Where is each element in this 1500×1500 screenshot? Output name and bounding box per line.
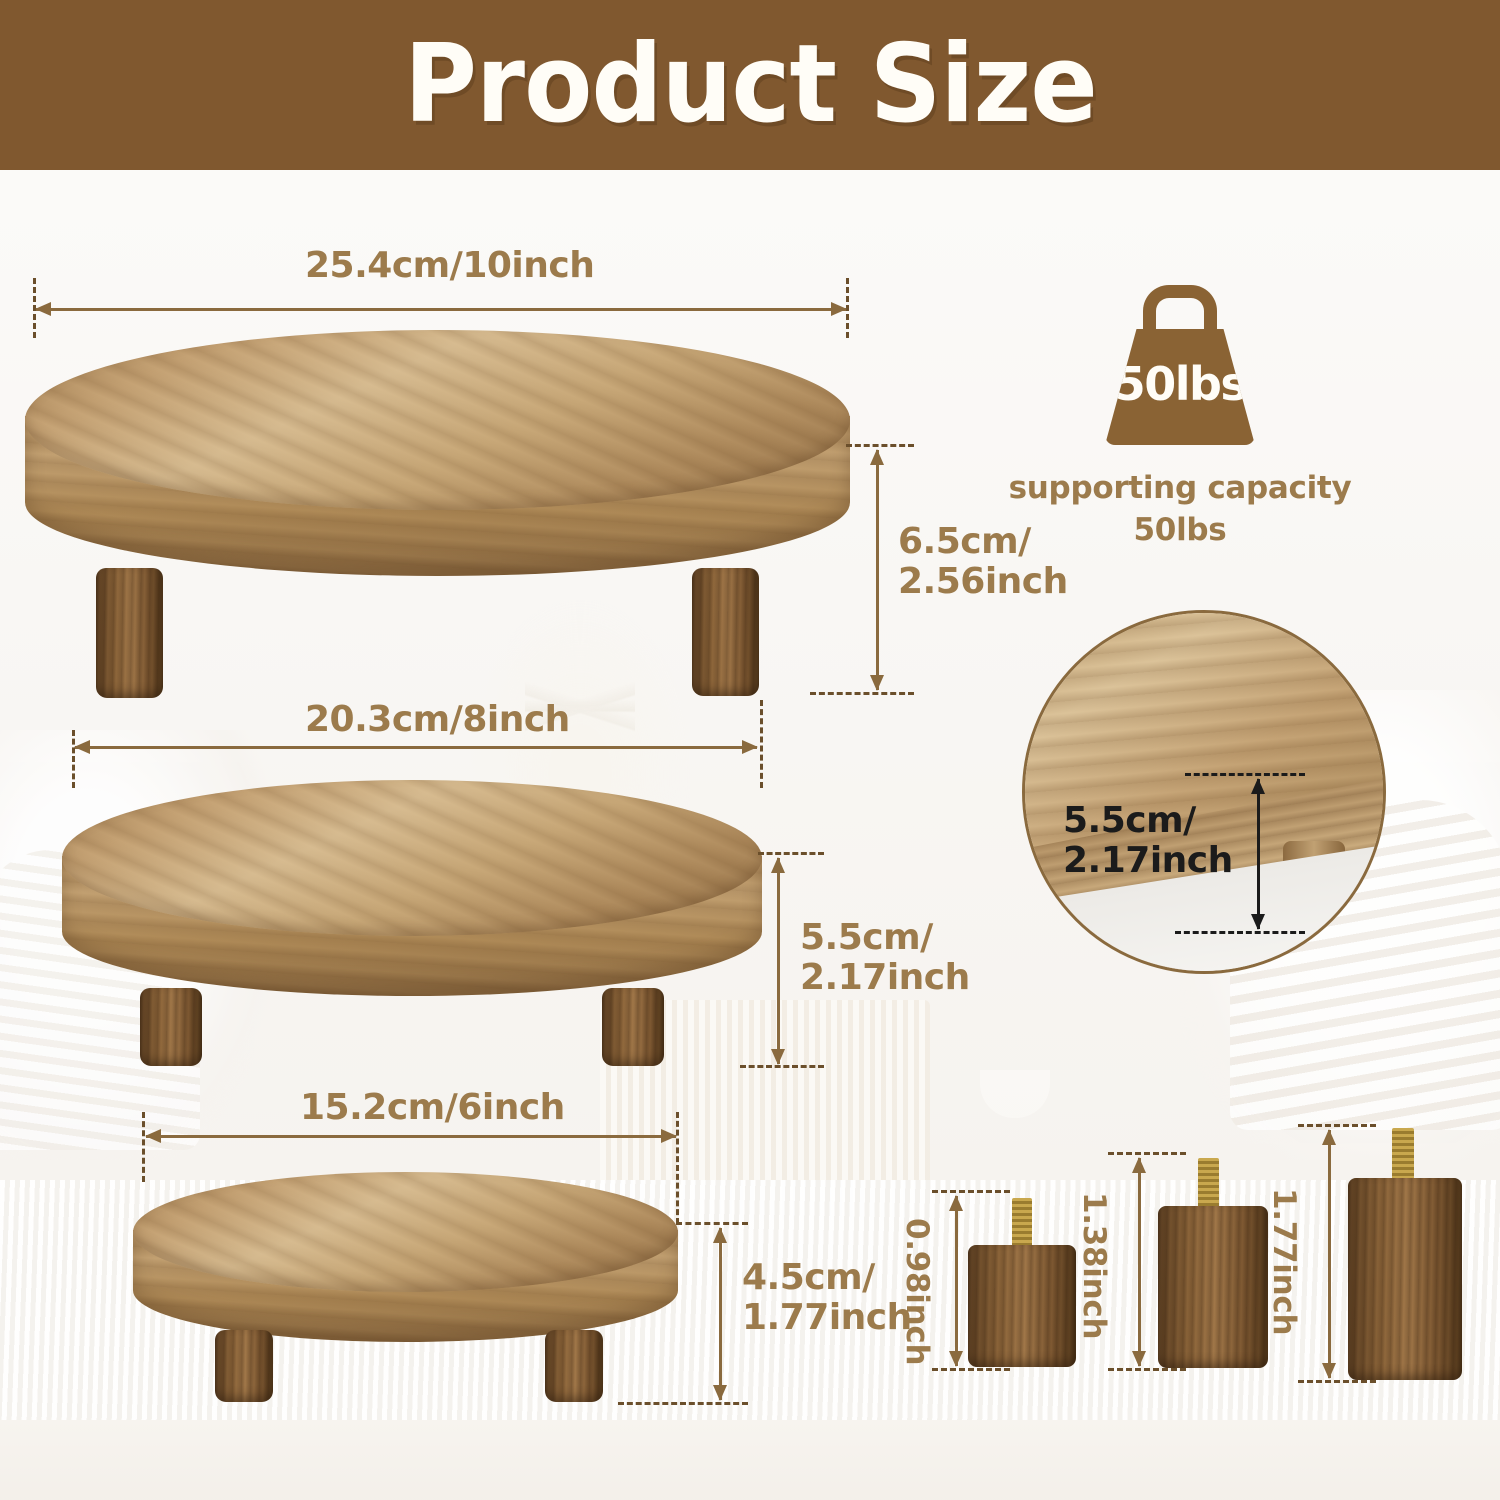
medium-riser-height-guide-top [758,852,824,855]
small-riser-diameter-label: 15.2cm/6inch [300,1088,565,1128]
medium-leg-guide-top [1108,1152,1186,1155]
medium-riser-guide-right [760,700,763,788]
medium-leg [1158,1206,1268,1368]
background-floor [0,1420,1500,1500]
supporting-capacity-caption: supporting capacity 50lbs [1000,468,1360,552]
medium-riser-diameter-label: 20.3cm/8inch [305,700,570,740]
short-leg [968,1245,1076,1367]
tall-leg-guide-bottom [1298,1380,1376,1383]
large-riser-height-guide-top [846,444,914,447]
weight-capacity-icon: 50lbs [1105,285,1255,445]
page-title: Product Size [404,31,1097,139]
short-leg-label: 0.98inch [899,1218,935,1365]
small-riser [133,1172,678,1342]
magnifier-height-label: 5.5cm/ 2.17inch [1063,801,1233,882]
short-leg-guide-top [932,1190,1010,1193]
medium-leg-label: 1.38inch [1076,1192,1112,1339]
small-riser-height-guide-top [676,1222,748,1225]
small-riser-surface [133,1172,678,1292]
detail-magnifier-circle: 5.5cm/ 2.17inch [1022,610,1386,974]
small-riser-leg-left [215,1330,273,1402]
product-size-infographic: Product Size 25.4cm/10inch 6.5cm/ 2.56in… [0,0,1500,1500]
medium-riser-height-arrow [777,858,780,1064]
small-riser-height-guide-bottom [618,1402,748,1405]
weight-body-icon: 50lbs [1105,329,1255,445]
medium-riser-height-label: 5.5cm/ 2.17inch [800,918,970,999]
large-riser [25,330,850,575]
medium-riser-surface [62,780,762,936]
short-leg-arrow [955,1196,958,1366]
header-banner: Product Size [0,0,1500,170]
medium-riser-leg-left [140,988,202,1066]
large-riser-height-arrow [876,450,879,690]
small-riser-height-label: 4.5cm/ 1.77inch [742,1258,912,1339]
medium-leg-arrow [1138,1158,1141,1366]
small-riser-diameter-arrow [146,1135,676,1138]
large-riser-diameter-label: 25.4cm/10inch [305,246,594,286]
tall-leg-label: 1.77inch [1266,1188,1302,1335]
weight-badge-value: 50lbs [1114,357,1247,411]
large-riser-height-guide-bottom [810,692,914,695]
medium-riser-height-guide-bottom [740,1065,824,1068]
tall-leg-guide-top [1298,1124,1376,1127]
small-riser-leg-right [545,1330,603,1402]
large-riser-leg-left [96,568,163,698]
magnifier-guide-top [1185,773,1305,776]
magnifier-height-arrow [1257,779,1260,929]
large-riser-surface [25,330,850,510]
tall-leg-arrow [1328,1130,1331,1378]
magnifier-guide-bottom [1175,931,1305,934]
large-riser-diameter-arrow [36,308,846,311]
medium-riser-diameter-arrow [75,746,757,749]
large-riser-leg-right [692,568,759,696]
medium-riser [62,780,762,995]
medium-riser-leg-right [602,988,664,1066]
small-riser-height-arrow [719,1228,722,1400]
medium-leg-guide-bottom [1108,1368,1186,1371]
tall-leg [1348,1178,1462,1380]
short-leg-guide-bottom [932,1368,1010,1371]
